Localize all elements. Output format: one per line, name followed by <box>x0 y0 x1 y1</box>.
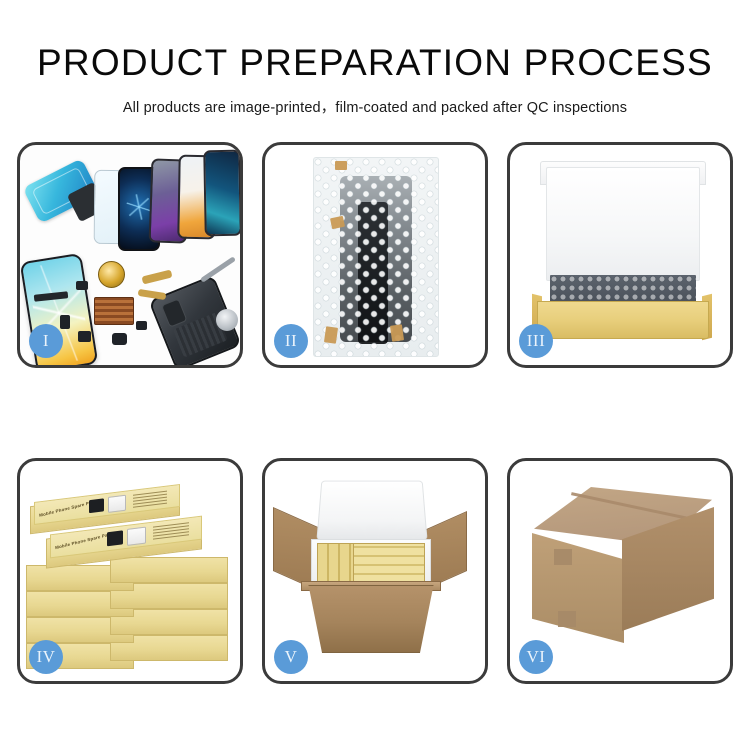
label-phone-dark <box>89 498 104 513</box>
label-phone-dark <box>107 530 123 546</box>
step-panel-3[interactable]: III <box>507 142 733 368</box>
header: PRODUCT PREPARATION PROCESS All products… <box>0 0 750 117</box>
step-badge-4: IV <box>29 640 63 674</box>
page-title: PRODUCT PREPARATION PROCESS <box>0 0 750 83</box>
carton-body-graphic <box>303 585 439 653</box>
page-subtitle: All products are image-printed，film-coat… <box>0 83 750 117</box>
label-phone-light <box>127 527 146 546</box>
step-panel-2[interactable]: II <box>262 142 488 368</box>
tape-strip <box>390 324 404 342</box>
carton-left-face-graphic <box>532 533 624 643</box>
metal-part-graphic <box>216 309 238 331</box>
connector-grid-graphic <box>94 297 134 325</box>
process-grid: I II <box>17 142 733 687</box>
box-stack-graphic: Mobile Phone Spare Parts Mobile Phone Sp… <box>24 473 236 671</box>
yellow-box-front-graphic <box>537 301 709 339</box>
step-badge-5: V <box>274 640 308 674</box>
chip-graphic <box>60 315 70 329</box>
step-panel-5[interactable]: V <box>262 458 488 684</box>
step-badge-2: II <box>274 324 308 358</box>
carton-tape-graphic <box>554 549 572 565</box>
step-panel-6[interactable]: VI <box>507 458 733 684</box>
step-panel-1[interactable]: I <box>17 142 243 368</box>
step-panel-4[interactable]: Mobile Phone Spare Parts Mobile Phone Sp… <box>17 458 243 684</box>
foam-sheet-graphic <box>546 167 700 281</box>
tape-strip <box>335 161 347 170</box>
label-spec-lines <box>153 522 189 541</box>
label-phone-light <box>108 495 126 513</box>
foam-lid-graphic <box>316 481 427 540</box>
yellow-boxes-graphic <box>353 543 425 583</box>
repair-tool-graphic <box>200 256 236 283</box>
step-badge-3: III <box>519 324 553 358</box>
bubble-pad-graphic <box>550 275 696 303</box>
speaker-coil-graphic <box>98 261 125 288</box>
chip-graphic <box>136 321 147 330</box>
gold-flex-a-graphic <box>141 269 172 284</box>
label-spec-lines <box>133 491 167 510</box>
step-badge-6: VI <box>519 640 553 674</box>
box-label-text: Mobile Phone Spare Parts <box>55 531 114 550</box>
phone-teal-graphic <box>203 150 241 237</box>
tape-strip <box>324 326 338 344</box>
chip-graphic <box>76 281 88 290</box>
step-badge-1: I <box>29 324 63 358</box>
chip-graphic <box>78 331 91 342</box>
carton-tape-graphic <box>558 611 576 627</box>
chip-graphic <box>112 333 127 345</box>
stacked-box <box>110 557 228 583</box>
poster-root: PRODUCT PREPARATION PROCESS All products… <box>0 0 750 750</box>
gold-flex-b-graphic <box>138 289 167 300</box>
